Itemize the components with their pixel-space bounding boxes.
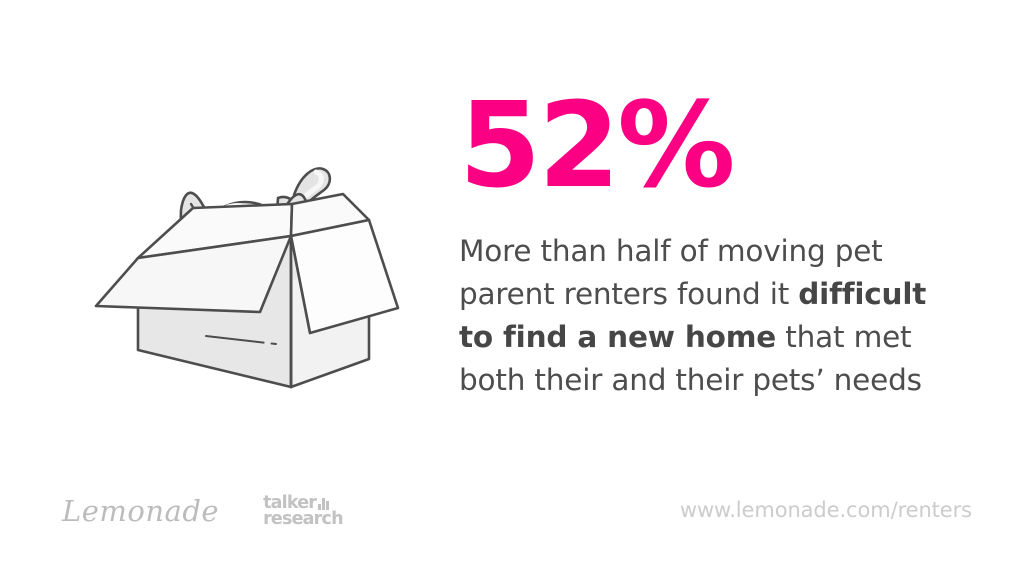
cat-in-moving-box-illustration	[88, 98, 408, 390]
infographic-slide: 52% More than half of moving pet parent …	[0, 0, 1024, 566]
site-url[interactable]: www.lemonade.com/renters	[680, 498, 972, 522]
stat-description: More than half of moving pet parent rent…	[459, 230, 939, 402]
stat-block: 52% More than half of moving pet parent …	[459, 86, 959, 402]
footer: Lemonade talker research www.lemonade.co…	[0, 484, 1024, 544]
brand-logos: Lemonade talker research	[62, 484, 343, 538]
talker-research-logo: talker research	[263, 495, 343, 527]
talker-research-word-research: research	[263, 511, 343, 527]
lemonade-logo: Lemonade	[62, 497, 219, 526]
stat-percentage-value: 52%	[459, 86, 959, 204]
talker-research-line-2: research	[263, 511, 343, 527]
